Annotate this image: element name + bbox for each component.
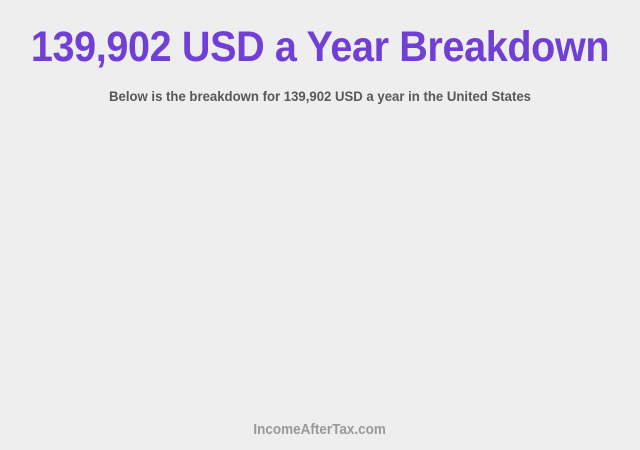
page-title: 139,902 USD a Year Breakdown	[26, 22, 615, 72]
page-header: 139,902 USD a Year Breakdown Below is th…	[0, 22, 640, 105]
footer-brand-label: IncomeAfterTax.com	[254, 420, 387, 440]
page-subtitle: Below is the breakdown for 139,902 USD a…	[19, 87, 621, 105]
page-root: 139,902 USD a Year Breakdown Below is th…	[0, 0, 640, 450]
page-footer: IncomeAfterTax.com	[0, 420, 640, 440]
breakdown-content-area	[0, 120, 640, 410]
